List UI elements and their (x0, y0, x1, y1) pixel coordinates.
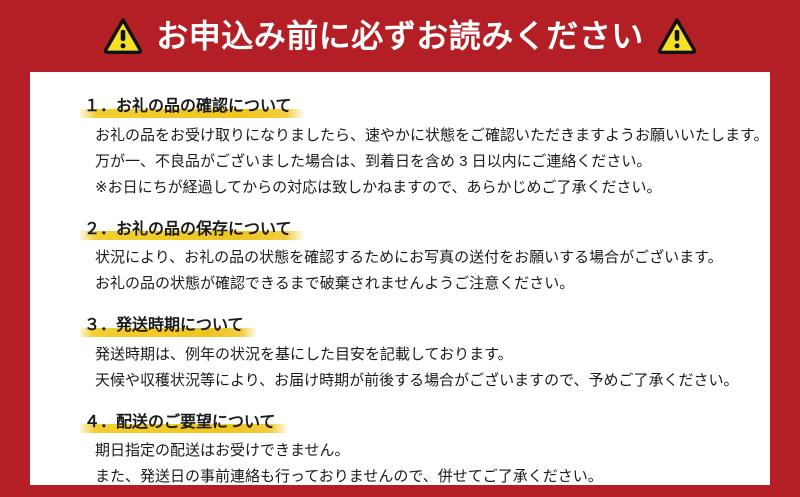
page-title: お申込み前に必ずお読みください (156, 20, 644, 52)
section-heading-text: ４．配送のご要望について (84, 414, 276, 431)
section-body: 期日指定の配送はお受けできません。 また、発送日の事前連絡も行っておりませんので… (84, 438, 744, 490)
section-heading-text: １．お礼の品の確認について (84, 98, 292, 115)
warning-triangle-icon (658, 17, 696, 55)
section-body: お礼の品をお受け取りになりましたら、速やかに状態をご確認いただきますようお願いい… (84, 123, 744, 201)
body-line: 状況により、お礼の品の状態を確認するためにお写真の送付をお願いする場合がございま… (95, 245, 744, 271)
section-body: 状況により、お礼の品の状態を確認するためにお写真の送付をお願いする場合がございま… (84, 245, 744, 297)
section-heading-text: ３．発送時期について (84, 317, 244, 334)
body-line: お礼の品をお受け取りになりましたら、速やかに状態をご確認いただきますようお願いい… (95, 123, 744, 149)
section-heading-text: ２．お礼の品の保存について (84, 221, 292, 238)
notice-section: １．お礼の品の確認について お礼の品をお受け取りになりましたら、速やかに状態をご… (84, 96, 744, 201)
section-heading: １．お礼の品の確認について (84, 96, 292, 118)
notice-section: ４．配送のご要望について 期日指定の配送はお受けできません。 また、発送日の事前… (84, 412, 744, 491)
body-line: 万が一、不良品がございました場合は、到着日を含め 3 日以内にご連絡ください。 (95, 149, 744, 175)
notice-section: ３．発送時期について 発送時期は、例年の状況を基にした目安を記載しております。 … (84, 315, 744, 394)
body-line: また、発送日の事前連絡も行っておりませんので、併せてご了承ください。 (95, 464, 744, 490)
body-line: お礼の品の状態が確認できるまで破棄されませんようご注意ください。 (95, 271, 744, 297)
body-line: 期日指定の配送はお受けできません。 (95, 438, 744, 464)
body-line: ※お日にちが経過してからの対応は致しかねますので、あらかじめご了承ください。 (95, 175, 744, 201)
notice-section: ２．お礼の品の保存について 状況により、お礼の品の状態を確認するためにお写真の送… (84, 219, 744, 298)
notice-sections: １．お礼の品の確認について お礼の品をお受け取りになりましたら、速やかに状態をご… (84, 96, 744, 490)
title-banner: お申込み前に必ずお読みください (0, 0, 800, 72)
section-heading: ３．発送時期について (84, 315, 244, 337)
section-heading: ４．配送のご要望について (84, 412, 276, 434)
notice-graphic: お申込み前に必ずお読みください １．お礼の品の確認について お礼の品をお受け取り… (0, 0, 800, 497)
warning-triangle-icon (104, 17, 142, 55)
content-panel: １．お礼の品の確認について お礼の品をお受け取りになりましたら、速やかに状態をご… (30, 72, 770, 485)
section-body: 発送時期は、例年の状況を基にした目安を記載しております。 天候や収穫状況等により… (84, 342, 744, 394)
section-heading: ２．お礼の品の保存について (84, 219, 292, 241)
body-line: 発送時期は、例年の状況を基にした目安を記載しております。 (95, 342, 744, 368)
body-line: 天候や収穫状況等により、お届け時期が前後する場合がございますので、予めご了承くだ… (95, 368, 744, 394)
